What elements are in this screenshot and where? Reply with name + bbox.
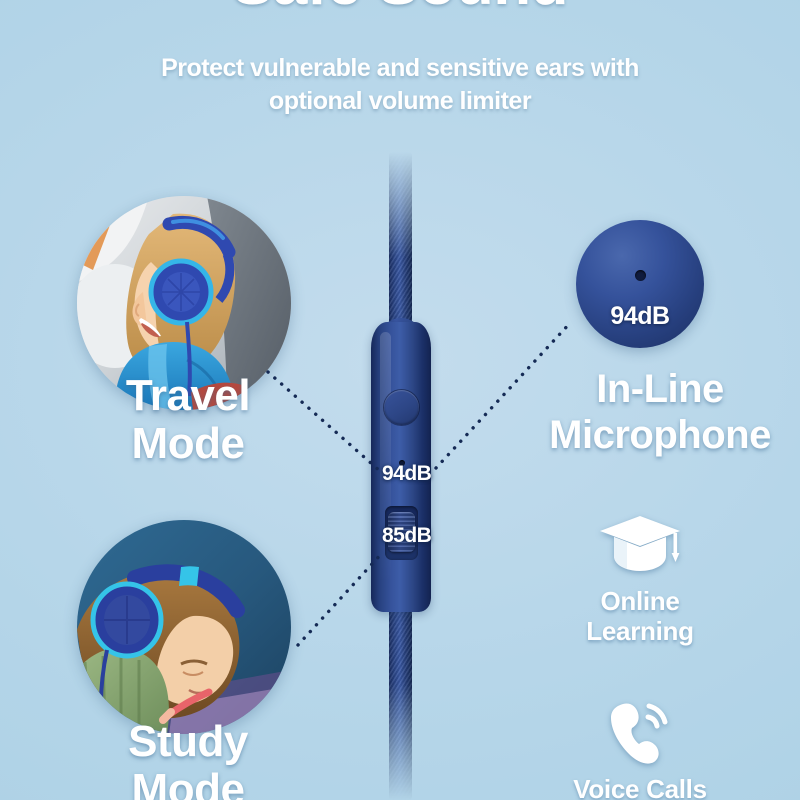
travel-mode-label-line-2: Mode xyxy=(58,420,318,468)
travel-mode-label: Travel Mode xyxy=(58,372,318,468)
headphone-cable-lower xyxy=(389,600,412,800)
feature-voice-calls-label-line-1: Voice Calls xyxy=(525,774,755,800)
feature-online-learning-label-line-2: Learning xyxy=(525,616,755,646)
study-mode-photo-illustration xyxy=(77,520,291,734)
inline-microphone-callout: 94dB xyxy=(576,220,704,348)
subtitle-line-1: Protect vulnerable and sensitive ears wi… xyxy=(0,52,800,85)
product-feature-banner: Safe Sound Protect vulnerable and sensit… xyxy=(0,0,800,800)
page-title: Safe Sound xyxy=(0,0,800,20)
headphone-cable-upper xyxy=(389,152,412,334)
page-subtitle: Protect vulnerable and sensitive ears wi… xyxy=(0,52,800,118)
inline-microphone-label: In-Line Microphone xyxy=(520,366,800,458)
feature-online-learning: Online Learning xyxy=(525,512,755,646)
feature-voice-calls-label: Voice Calls xyxy=(525,774,755,800)
study-mode-label-line-2: Mode xyxy=(58,766,318,800)
subtitle-line-2: optional volume limiter xyxy=(0,85,800,118)
phone-call-icon xyxy=(605,700,675,766)
graduation-cap-icon xyxy=(597,512,683,578)
travel-mode-label-line-1: Travel xyxy=(58,372,318,420)
volume-high-label: 94dB xyxy=(382,462,431,486)
feature-online-learning-label: Online Learning xyxy=(525,586,755,646)
feature-online-learning-label-line-1: Online xyxy=(525,586,755,616)
feature-voice-calls: Voice Calls xyxy=(525,700,755,800)
inline-microphone-label-line-2: Microphone xyxy=(520,412,800,458)
inline-microphone-label-line-1: In-Line xyxy=(520,366,800,412)
volume-low-label: 85dB xyxy=(382,524,431,548)
microphone-db-label: 94dB xyxy=(576,302,704,331)
study-mode-photo xyxy=(77,520,291,734)
microphone-hole-icon xyxy=(635,270,646,281)
study-mode-label: Study Mode xyxy=(58,718,318,800)
multifunction-button[interactable] xyxy=(384,390,419,425)
study-mode-label-line-1: Study xyxy=(58,718,318,766)
